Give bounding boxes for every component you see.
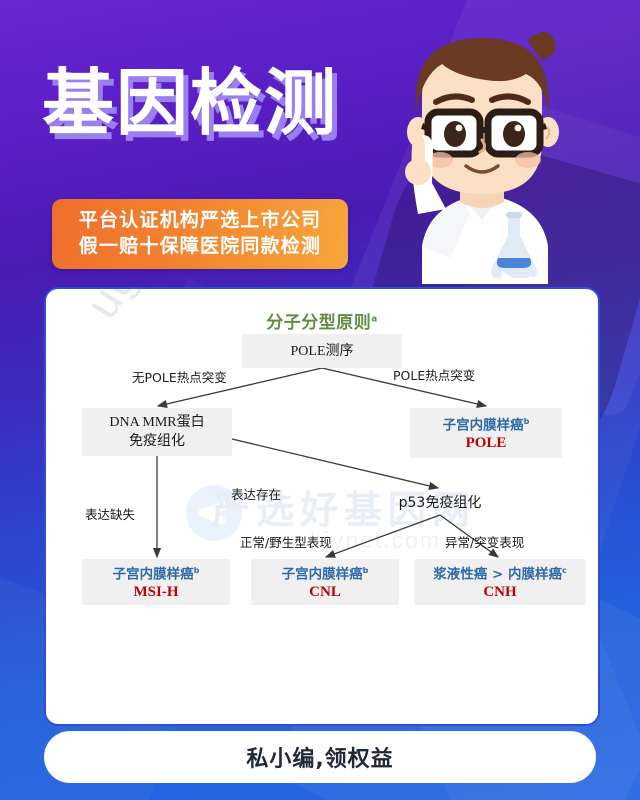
node-serous-cnh-type-text: 浆液性癌 > 内膜样癌 (433, 566, 562, 582)
edge-label-expression-present: 表达存在 (231, 484, 281, 503)
node-serous-cnh: 浆液性癌 > 内膜样癌c CNH (414, 559, 586, 605)
node-endometrioid-cnl-type: 子宫内膜样癌b (282, 562, 369, 584)
node-dna-mmr: DNA MMR蛋白 免疫组化 (82, 408, 232, 456)
edge-label-normal-wildtype: 正常/野生型表现 (240, 532, 332, 551)
node-endometrioid-cnl-marker: CNL (309, 583, 341, 602)
diagram-card: ugene 严选好基因网 www.hjynet.com 分子分型原则a (44, 287, 600, 726)
node-endometrioid-pole-type-text: 子宫内膜样癌 (443, 417, 524, 433)
edge-label-no-pole-hotspot: 无POLE热点突变 (132, 367, 227, 386)
node-serous-cnh-type: 浆液性癌 > 内膜样癌c (433, 562, 566, 584)
node-endometrioid-msi-sup: b (194, 566, 200, 575)
node-endometrioid-pole-type: 子宫内膜样癌b (443, 413, 530, 435)
node-endometrioid-cnl-type-text: 子宫内膜样癌 (282, 566, 363, 582)
promo-badge-line-2: 假一赔十保障医院同款检测 (52, 233, 348, 259)
node-dna-mmr-line-2: 免疫组化 (129, 432, 185, 451)
node-p53-ihc: p53免疫组化 (380, 489, 500, 515)
node-pole-sequencing: POLE测序 (242, 334, 402, 368)
edge-label-abnormal-mutant: 异常/突变表现 (445, 532, 524, 551)
node-pole-sequencing-label: POLE测序 (291, 342, 354, 361)
node-serous-cnh-marker: CNH (483, 583, 516, 602)
cta-button-label: 私小编,领权益 (246, 741, 393, 773)
promo-badge-line-1: 平台认证机构严选上市公司 (52, 207, 348, 233)
node-serous-cnh-sup: c (562, 566, 567, 575)
edge-label-pole-hotspot: POLE热点突变 (393, 365, 475, 384)
node-endometrioid-pole-sup: b (524, 417, 530, 426)
edge-label-expression-loss: 表达缺失 (85, 504, 135, 523)
node-endometrioid-pole-marker: POLE (466, 434, 507, 453)
node-endometrioid-pole: 子宫内膜样癌b POLE (410, 408, 562, 458)
cta-button[interactable]: 私小编,领权益 (44, 731, 596, 783)
node-endometrioid-msi-type-text: 子宫内膜样癌 (113, 566, 194, 582)
node-p53-ihc-label: p53免疫组化 (399, 492, 482, 512)
poster: 基因检测 平台认证机构严选上市公司 假一赔十保障医院同款检测 (0, 0, 640, 800)
node-dna-mmr-line-1: DNA MMR蛋白 (109, 413, 204, 432)
page-title: 基因检测 (42, 62, 338, 144)
molecular-classification-diagram: 分子分型原则a (46, 289, 598, 724)
scientist-character-illustration (352, 14, 612, 284)
node-endometrioid-msi: 子宫内膜样癌b MSI-H (82, 559, 230, 605)
node-endometrioid-cnl-sup: b (363, 566, 369, 575)
node-endometrioid-msi-marker: MSI-H (134, 583, 179, 602)
node-endometrioid-cnl: 子宫内膜样癌b CNL (251, 559, 399, 605)
promo-badge: 平台认证机构严选上市公司 假一赔十保障医院同款检测 (52, 199, 348, 269)
node-endometrioid-msi-type: 子宫内膜样癌b (113, 562, 200, 584)
